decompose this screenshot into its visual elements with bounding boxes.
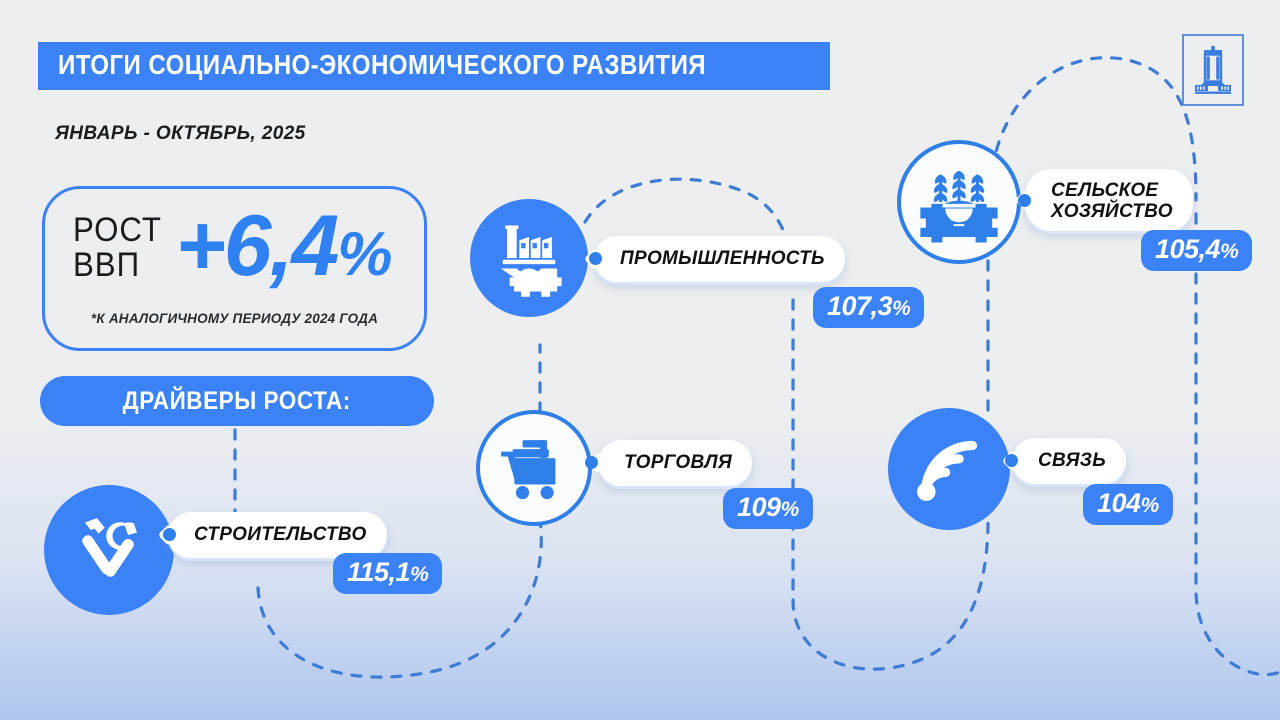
trade-value: 109 <box>737 492 781 522</box>
title-banner: ИТОГИ СОЦИАЛЬНО-ЭКОНОМИЧЕСКОГО РАЗВИТИЯ <box>38 42 830 90</box>
industry-icon-circle <box>470 199 588 317</box>
communication-percent-sign: % <box>1141 494 1159 517</box>
infographic-canvas: ИТОГИ СОЦИАЛЬНО-ЭКОНОМИЧЕСКОГО РАЗВИТИЯ … <box>0 0 1280 720</box>
hammer-wrench-icon <box>66 507 152 593</box>
page-title: ИТОГИ СОЦИАЛЬНО-ЭКОНОМИЧЕСКОГО РАЗВИТИЯ <box>58 51 706 79</box>
trade-value-badge: 109% <box>723 488 813 529</box>
agriculture-label-pill[interactable]: СЕЛЬСКОЕ ХОЗЯЙСТВО <box>1025 169 1193 231</box>
agriculture-value-badge: 105,4% <box>1141 230 1252 271</box>
gdp-growth-card: РОСТ ВВП +6,4% *К АНАЛОГИЧНОМУ ПЕРИОДУ 2… <box>42 186 427 351</box>
factory-gear-icon <box>485 214 573 302</box>
agriculture-value: 105,4 <box>1155 234 1220 264</box>
gdp-value: +6,4 <box>176 198 338 294</box>
shopping-cart-icon <box>493 427 575 509</box>
period-subtitle: ЯНВАРЬ - ОКТЯБРЬ, 2025 <box>55 123 306 145</box>
agriculture-label: СЕЛЬСКОЕ ХОЗЯЙСТВО <box>1051 180 1173 223</box>
industry-value-badge: 107,3% <box>813 287 924 328</box>
gdp-label-line1: РОСТ <box>73 213 162 248</box>
construction-connector-dot <box>163 528 176 541</box>
connector-right-tail <box>1196 214 1280 675</box>
gdp-percent-sign: % <box>337 220 390 289</box>
agriculture-icon-circle <box>897 140 1021 264</box>
construction-value-badge: 115,1% <box>333 553 442 594</box>
connector-lines <box>0 0 1280 720</box>
construction-label: СТРОИТЕЛЬСТВО <box>194 524 367 545</box>
gdp-label-line2: ВВП <box>73 248 162 283</box>
industry-label-pill[interactable]: ПРОМЫШЛЕННОСТЬ <box>594 236 845 282</box>
construction-label-pill[interactable]: СТРОИТЕЛЬСТВО <box>168 512 387 558</box>
communication-label-pill[interactable]: СВЯЗЬ <box>1012 438 1126 484</box>
wheat-gear-icon <box>913 156 1005 248</box>
gdp-row: РОСТ ВВП +6,4% <box>73 203 391 289</box>
communication-value-badge: 104% <box>1083 484 1173 525</box>
communication-connector-dot <box>1005 454 1018 467</box>
industry-percent-sign: % <box>892 297 910 320</box>
communication-icon-circle <box>888 408 1010 530</box>
construction-percent-sign: % <box>410 563 428 586</box>
gdp-footnote: *К АНАЛОГИЧНОМУ ПЕРИОДУ 2024 ГОДА <box>45 311 424 326</box>
trade-connector-dot <box>585 456 598 469</box>
trade-label-pill[interactable]: ТОРГОВЛЯ <box>598 440 752 486</box>
communication-label: СВЯЗЬ <box>1038 450 1106 471</box>
construction-value: 115,1 <box>347 557 410 587</box>
industry-label: ПРОМЫШЛЕННОСТЬ <box>620 248 825 269</box>
trade-label: ТОРГОВЛЯ <box>624 452 732 473</box>
industry-value: 107,3 <box>827 291 892 321</box>
construction-icon-circle <box>44 485 174 615</box>
government-building-icon <box>1193 44 1233 96</box>
industry-connector-dot <box>589 252 602 265</box>
agriculture-connector-dot <box>1018 194 1031 207</box>
trade-percent-sign: % <box>781 498 799 521</box>
wifi-signal-icon <box>907 427 991 511</box>
gdp-value-group: +6,4% <box>176 203 391 289</box>
agriculture-percent-sign: % <box>1220 240 1238 263</box>
organization-logo <box>1182 34 1244 106</box>
drivers-heading-label: ДРАЙВЕРЫ РОСТА: <box>123 387 351 416</box>
drivers-heading: ДРАЙВЕРЫ РОСТА: <box>40 376 434 426</box>
gdp-label: РОСТ ВВП <box>73 209 162 282</box>
communication-value: 104 <box>1097 488 1141 518</box>
trade-icon-circle <box>476 410 592 526</box>
